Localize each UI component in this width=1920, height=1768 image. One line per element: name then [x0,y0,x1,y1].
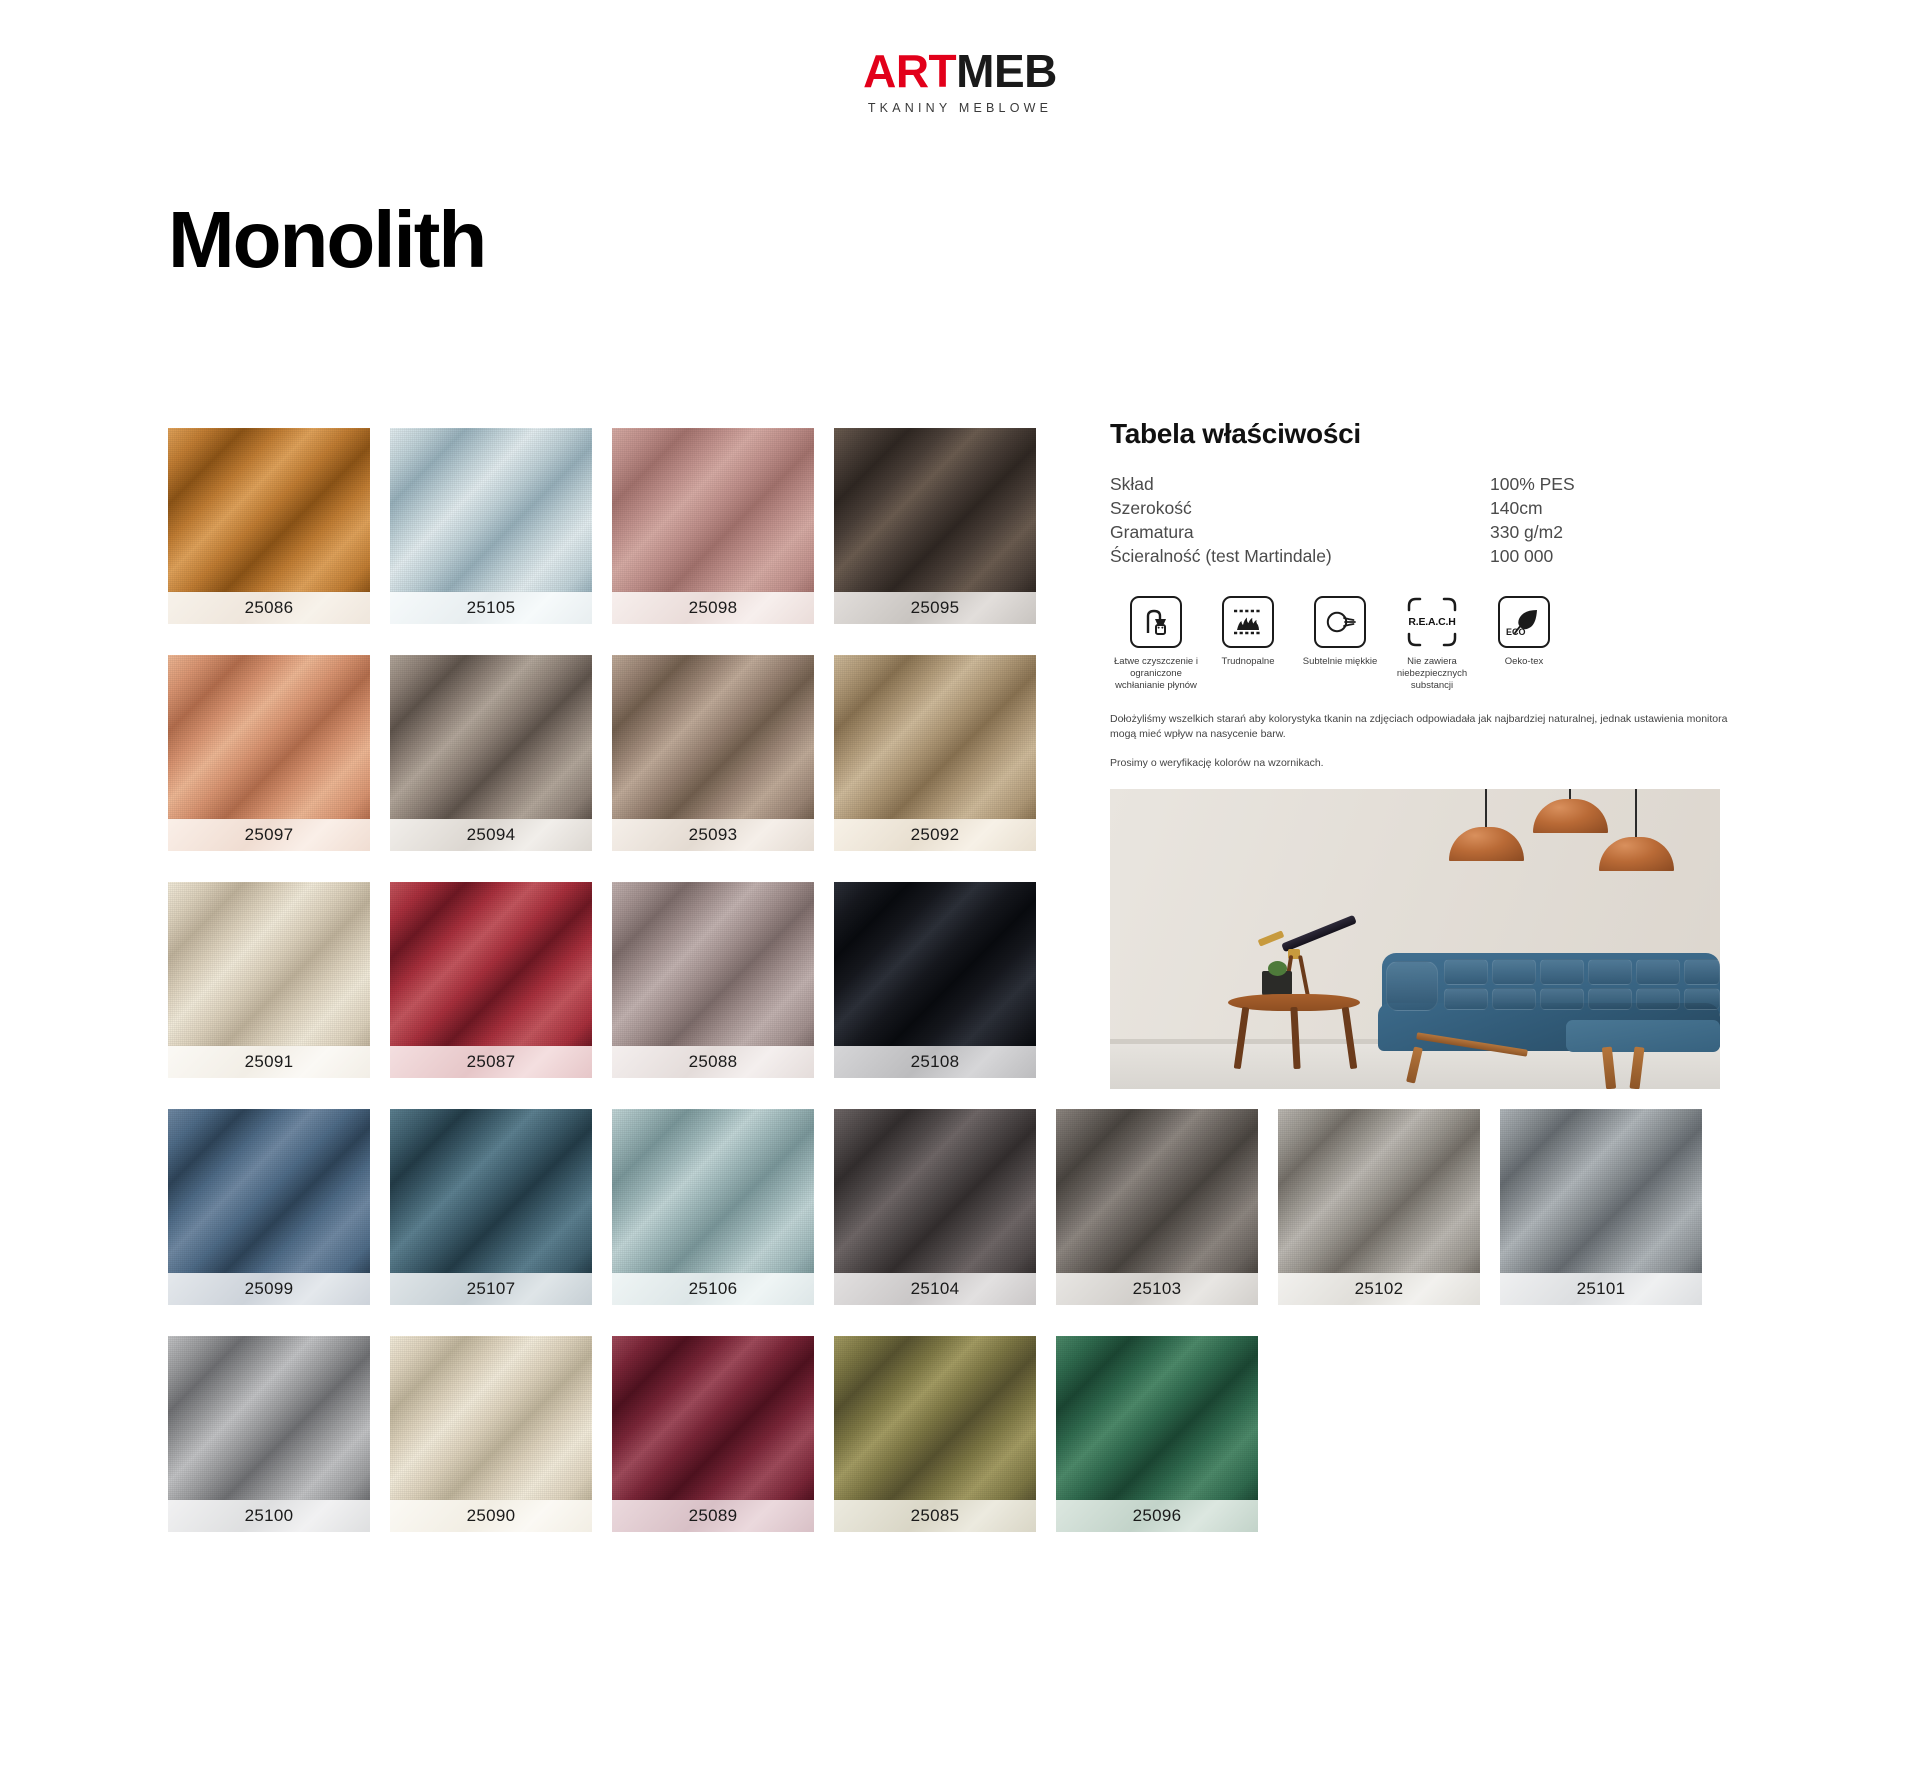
fabric-swatch-label: 25093 [612,819,814,851]
property-name: Szerokość [1110,496,1490,520]
fabric-texture-overlay [1056,1336,1258,1500]
photo-sofa-tuft-6 [1684,959,1720,985]
fabric-swatch-image [612,655,814,819]
property-row: Skład100% PES [1110,472,1730,496]
fabric-texture-overlay [612,428,814,592]
fabric-swatch-label: 25108 [834,1046,1036,1078]
fabric-swatch-label: 25102 [1278,1273,1480,1305]
fabric-swatch-label: 25099 [168,1273,370,1305]
fabric-swatch-label: 25106 [612,1273,814,1305]
photo-sofa-tuft-1 [1444,959,1488,985]
feature-caption: Trudnopalne [1203,656,1293,668]
fabric-texture-overlay [834,1336,1036,1500]
fabric-swatch-image [168,1109,370,1273]
fabric-code: 25105 [467,598,516,618]
fabric-swatch-image [612,1336,814,1500]
feature-item: ECOOeko-tex [1478,596,1570,692]
fabric-swatch-image [1056,1109,1258,1273]
fabric-swatch-label: 25100 [168,1500,370,1532]
fabric-code: 25095 [911,598,960,618]
fabric-swatch-label: 25095 [834,592,1036,624]
fabric-swatch-image [168,1336,370,1500]
fabric-swatch[interactable]: 25087 [390,882,592,1078]
logo-art-text: ART [863,45,956,97]
fabric-swatch-label: 25104 [834,1273,1036,1305]
photo-sofa-tuft-11 [1636,988,1680,1010]
fabric-code: 25087 [467,1052,516,1072]
fabric-code: 25103 [1133,1279,1182,1299]
fabric-swatch[interactable]: 25092 [834,655,1036,851]
fabric-code: 25108 [911,1052,960,1072]
fabric-code: 25101 [1577,1279,1626,1299]
swatch-row: 25099251072510625104251032510225101 [168,1109,1568,1305]
logo-tagline: TKANINY MEBLOWE [0,101,1920,115]
fabric-swatch-label: 25094 [390,819,592,851]
fabric-swatch-label: 25105 [390,592,592,624]
photo-sofa-tuft-4 [1588,959,1632,985]
specs-column: Tabela właściwości Skład100% PESSzerokoś… [1110,418,1730,1089]
feature-item: Trudnopalne [1202,596,1294,692]
fabric-swatch-label: 25101 [1500,1273,1702,1305]
photo-sofa-arm-cushion [1386,961,1438,1011]
fabric-swatch[interactable]: 25103 [1056,1109,1258,1305]
fabric-swatch[interactable]: 25106 [612,1109,814,1305]
fabric-swatch[interactable]: 25088 [612,882,814,1078]
fabric-swatch-image [390,882,592,1046]
fabric-swatch-image [1500,1109,1702,1273]
fabric-swatch-image [390,1109,592,1273]
fabric-swatch[interactable]: 25101 [1500,1109,1702,1305]
fabric-texture-overlay [1056,1109,1258,1273]
properties-table: Skład100% PESSzerokość140cmGramatura330 … [1110,472,1730,568]
fabric-code: 25100 [245,1506,294,1526]
feature-icons-row: Łatwe czyszczenie i ograniczone wchłania… [1110,596,1570,692]
fabric-code: 25091 [245,1052,294,1072]
fabric-swatch-image [612,882,814,1046]
feature-caption: Nie zawiera niebezpiecznych substancji [1387,656,1477,692]
fabric-swatch-image [390,655,592,819]
fabric-swatch[interactable]: 25105 [390,428,592,624]
fabric-swatch-label: 25090 [390,1500,592,1532]
fabric-swatch-label: 25097 [168,819,370,851]
fabric-swatch[interactable]: 25085 [834,1336,1036,1532]
fabric-texture-overlay [612,882,814,1046]
catalog-page: ARTMEB TKANINY MEBLOWE Monolith 25086251… [0,0,1920,1768]
fabric-code: 25086 [245,598,294,618]
fabric-code: 25097 [245,825,294,845]
fabric-code: 25102 [1355,1279,1404,1299]
fabric-texture-overlay [834,1109,1036,1273]
fabric-code: 25094 [467,825,516,845]
fabric-code: 25090 [467,1506,516,1526]
swatch-row: 2510025090250892508525096 [168,1336,1568,1532]
fabric-swatch-image [612,428,814,592]
fabric-texture-overlay [390,655,592,819]
fabric-swatch-image [834,1109,1036,1273]
fabric-swatch[interactable]: 25104 [834,1109,1036,1305]
fabric-swatch-label: 25088 [612,1046,814,1078]
fabric-code: 25085 [911,1506,960,1526]
fabric-swatch-image [834,655,1036,819]
property-row: Szerokość140cm [1110,496,1730,520]
property-name: Ścieralność (test Martindale) [1110,544,1490,568]
fabric-swatch[interactable]: 25095 [834,428,1036,624]
property-row: Gramatura330 g/m2 [1110,520,1730,544]
fabric-swatch-image [1056,1336,1258,1500]
fabric-texture-overlay [168,1336,370,1500]
fabric-texture-overlay [390,1336,592,1500]
feature-caption: Łatwe czyszczenie i ograniczone wchłania… [1111,656,1201,692]
photo-lamp-cord-1 [1485,789,1487,831]
property-name: Gramatura [1110,520,1490,544]
brand-logo: ARTMEB TKANINY MEBLOWE [0,48,1920,115]
fabric-code: 25106 [689,1279,738,1299]
fabric-swatch[interactable]: 25093 [612,655,814,851]
fabric-code: 25096 [1133,1506,1182,1526]
fabric-code: 25088 [689,1052,738,1072]
fabric-swatch-label: 25089 [612,1500,814,1532]
fabric-texture-overlay [612,1109,814,1273]
fabric-swatch[interactable]: 25094 [390,655,592,851]
photo-sofa-tuft-10 [1588,988,1632,1010]
interior-photo [1110,789,1720,1089]
feature-caption: Subtelnie miękkie [1295,656,1385,668]
fabric-code: 25092 [911,825,960,845]
fabric-code: 25107 [467,1279,516,1299]
fabric-swatch-image [168,882,370,1046]
fabric-swatch-label: 25098 [612,592,814,624]
fabric-swatch-label: 25091 [168,1046,370,1078]
fabric-texture-overlay [612,1336,814,1500]
disclaimer-paragraph-1: Dołożyliśmy wszelkich starań aby kolorys… [1110,712,1730,742]
photo-sofa-tuft-5 [1636,959,1680,985]
fabric-swatch-label: 25107 [390,1273,592,1305]
fabric-swatch-image [1278,1109,1480,1273]
fabric-swatch[interactable]: 25108 [834,882,1036,1078]
fabric-texture-overlay [168,1109,370,1273]
fabric-swatch-label: 25087 [390,1046,592,1078]
fabric-swatch[interactable]: 25100 [168,1336,370,1532]
logo-meb-text: MEB [956,45,1057,97]
fabric-texture-overlay [612,655,814,819]
fabric-texture-overlay [1500,1109,1702,1273]
fabric-swatch-image [612,1109,814,1273]
fabric-swatch-label: 25092 [834,819,1036,851]
property-value: 100 000 [1490,544,1730,568]
fabric-texture-overlay [390,428,592,592]
fabric-swatch[interactable]: 25090 [390,1336,592,1532]
fabric-swatch[interactable]: 25107 [390,1109,592,1305]
photo-sofa-tuft-9 [1540,988,1584,1010]
fabric-texture-overlay [168,882,370,1046]
fabric-swatch[interactable]: 25099 [168,1109,370,1305]
fabric-code: 25093 [689,825,738,845]
feature-item: Subtelnie miękkie [1294,596,1386,692]
property-value: 100% PES [1490,472,1730,496]
photo-sofa-tuft-8 [1492,988,1536,1010]
soft-touch-icon [1314,596,1366,648]
eco-leaf-icon: ECO [1498,596,1550,648]
fabric-swatch-image [834,428,1036,592]
fabric-texture-overlay [390,1109,592,1273]
fabric-texture-overlay [168,428,370,592]
fabric-swatch-image [390,1336,592,1500]
fabric-swatch[interactable]: 25089 [612,1336,814,1532]
property-row: Ścieralność (test Martindale)100 000 [1110,544,1730,568]
fabric-swatch-image [834,882,1036,1046]
fabric-code: 25098 [689,598,738,618]
fabric-texture-overlay [390,882,592,1046]
photo-sofa-tuft-12 [1684,988,1720,1010]
fabric-swatch-image [168,428,370,592]
properties-heading: Tabela właściwości [1110,418,1730,450]
fabric-swatch-label: 25085 [834,1500,1036,1532]
fabric-swatch[interactable]: 25097 [168,655,370,851]
property-value: 140cm [1490,496,1730,520]
photo-sofa-tuft-7 [1444,988,1488,1010]
fabric-swatch-label: 25103 [1056,1273,1258,1305]
photo-sofa-tuft-2 [1492,959,1536,985]
page-title: Monolith [168,200,485,280]
fabric-code: 25089 [689,1506,738,1526]
fabric-texture-overlay [1278,1109,1480,1273]
fabric-texture-overlay [834,428,1036,592]
fabric-swatch-label: 25086 [168,592,370,624]
fabric-swatch[interactable]: 25091 [168,882,370,1078]
property-value: 330 g/m2 [1490,520,1730,544]
fabric-code: 25099 [245,1279,294,1299]
photo-lamp-cord-3 [1635,789,1637,841]
easy-clean-icon [1130,596,1182,648]
fabric-texture-overlay [834,882,1036,1046]
feature-item: R.E.A.C.HNie zawiera niebezpiecznych sub… [1386,596,1478,692]
fabric-texture-overlay [834,655,1036,819]
fabric-swatch-image [168,655,370,819]
flame-retardant-icon [1222,596,1274,648]
fabric-swatch-image [834,1336,1036,1500]
fabric-swatch[interactable]: 25098 [612,428,814,624]
fabric-code: 25104 [911,1279,960,1299]
fabric-texture-overlay [168,655,370,819]
fabric-swatch-image [390,428,592,592]
color-disclaimer: Dołożyliśmy wszelkich starań aby kolorys… [1110,712,1730,772]
fabric-swatch[interactable]: 25086 [168,428,370,624]
fabric-swatch-label: 25096 [1056,1500,1258,1532]
feature-caption: Oeko-tex [1479,656,1569,668]
fabric-swatch[interactable]: 25096 [1056,1336,1258,1532]
reach-icon: R.E.A.C.H [1406,596,1458,648]
disclaimer-paragraph-2: Prosimy o weryfikację kolorów na wzornik… [1110,756,1730,771]
property-name: Skład [1110,472,1490,496]
photo-sofa-tuft-3 [1540,959,1584,985]
fabric-swatch[interactable]: 25102 [1278,1109,1480,1305]
feature-item: Łatwe czyszczenie i ograniczone wchłania… [1110,596,1202,692]
logo-wordmark: ARTMEB [0,48,1920,94]
